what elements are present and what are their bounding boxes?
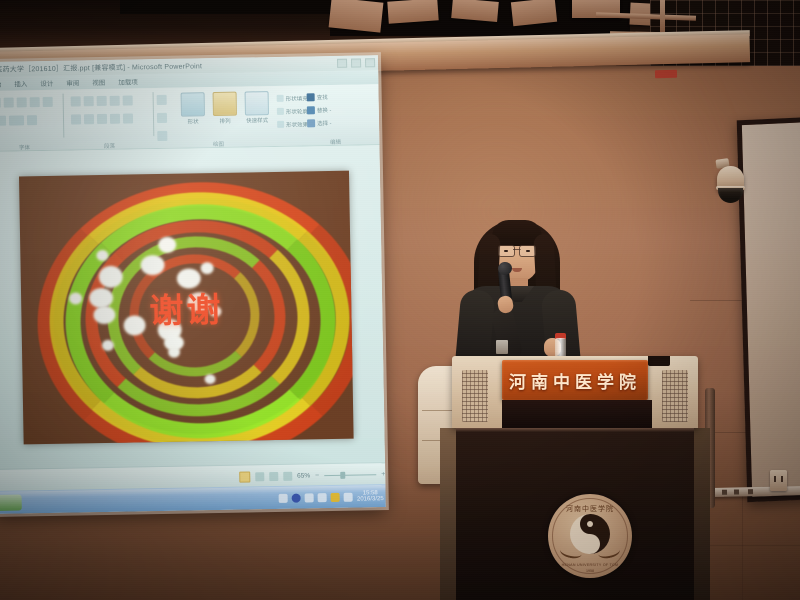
podium-display-bar: FOCUS: [502, 400, 652, 428]
podium-speaker-grille-left: [462, 370, 488, 422]
podium-notch: [648, 356, 670, 366]
ceiling-void: [120, 0, 330, 14]
outlet-slot: [781, 476, 783, 482]
podium-side-right: [694, 428, 710, 600]
wall-seam: [742, 490, 743, 600]
name-badge: [496, 340, 508, 354]
valance-brand-tag: [655, 70, 677, 78]
emblem-bottom-text: HENAN UNIVERSITY OF TCM: [548, 563, 632, 567]
podium-speaker-grille-right: [662, 370, 688, 422]
rail-clip: [748, 489, 753, 494]
ceiling-panel: [329, 0, 384, 33]
lens-left: [498, 245, 515, 257]
podium-top-panel: 河南中医学院 FOCUS: [452, 356, 698, 428]
venue-name: 河南中医学院: [509, 368, 641, 393]
ceiling-panel: [387, 0, 438, 24]
power-outlet: [770, 470, 787, 491]
podium-nameplate: 河南中医学院: [502, 360, 648, 400]
glasses-icon: [498, 245, 536, 255]
projection-screen-frame: [0, 52, 389, 517]
eye-left: [504, 250, 508, 252]
taiji-dot-top: [587, 521, 593, 527]
photo-scene: 中医药大学［201610］汇报.ppt [兼容模式] - Microsoft P…: [0, 0, 800, 600]
podium-body-edge: [456, 428, 694, 432]
lens-right: [519, 245, 536, 257]
emblem-year: 1958: [548, 569, 632, 573]
rail-clip: [734, 489, 739, 494]
rail-clip: [722, 490, 727, 495]
lectern-podium: 河南中医学院 FOCUS 河南中医学院 HENAN UNIVERSITY OF …: [452, 356, 698, 600]
taiji-dot-bottom: [587, 541, 593, 547]
emblem-top-text: 河南中医学院: [548, 504, 632, 514]
ceiling-truss: [660, 0, 665, 34]
wall-whiteboard: [737, 116, 800, 502]
ceiling-panel: [451, 0, 499, 22]
podium-side-left: [440, 428, 456, 600]
eye-right: [526, 250, 530, 252]
outlet-slot: [774, 476, 776, 482]
projection-screen: 中医药大学［201610］汇报.ppt [兼容模式] - Microsoft P…: [0, 55, 386, 514]
mouth: [512, 268, 522, 272]
ceiling-panel: [511, 0, 557, 26]
university-emblem: 河南中医学院 HENAN UNIVERSITY OF TCM 1958: [548, 494, 632, 578]
